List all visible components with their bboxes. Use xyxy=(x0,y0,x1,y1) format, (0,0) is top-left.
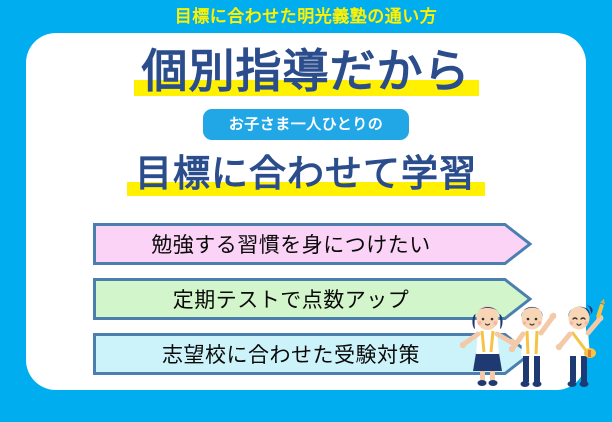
headline-primary: 個別指導だから xyxy=(134,42,479,100)
badge-pill: お子さま一人ひとりの xyxy=(203,109,410,140)
student-girl xyxy=(460,306,515,386)
promo-banner: 目標に合わせた明光義塾の通い方 個別指導だから お子さま一人ひとりの 目標に合わ… xyxy=(0,0,612,422)
badge-wrap: お子さま一人ひとりの xyxy=(26,109,586,140)
arrow-label-2: 定期テストで点数アップ xyxy=(93,278,489,320)
headline-secondary-text: 目標に合わせて学習 xyxy=(135,152,477,195)
students-svg xyxy=(460,298,612,390)
student-boy-center xyxy=(509,307,557,388)
headline-secondary-wrap: 目標に合わせて学習 xyxy=(26,150,586,198)
student-boy-right xyxy=(556,298,607,387)
arrow-label-1: 勉強する習慣を身につけたい xyxy=(93,223,489,265)
headline-secondary: 目標に合わせて学習 xyxy=(127,150,485,198)
arrow-label-3: 志望校に合わせた受験対策 xyxy=(93,333,489,375)
headline-primary-text: 個別指導だから xyxy=(142,44,471,98)
arrow-study-habit: 勉強する習慣を身につけたい xyxy=(93,223,533,265)
three-students-illustration xyxy=(460,298,612,390)
eyebrow-headline: 目標に合わせた明光義塾の通い方 xyxy=(0,6,612,28)
headline-primary-wrap: 個別指導だから xyxy=(26,42,586,100)
